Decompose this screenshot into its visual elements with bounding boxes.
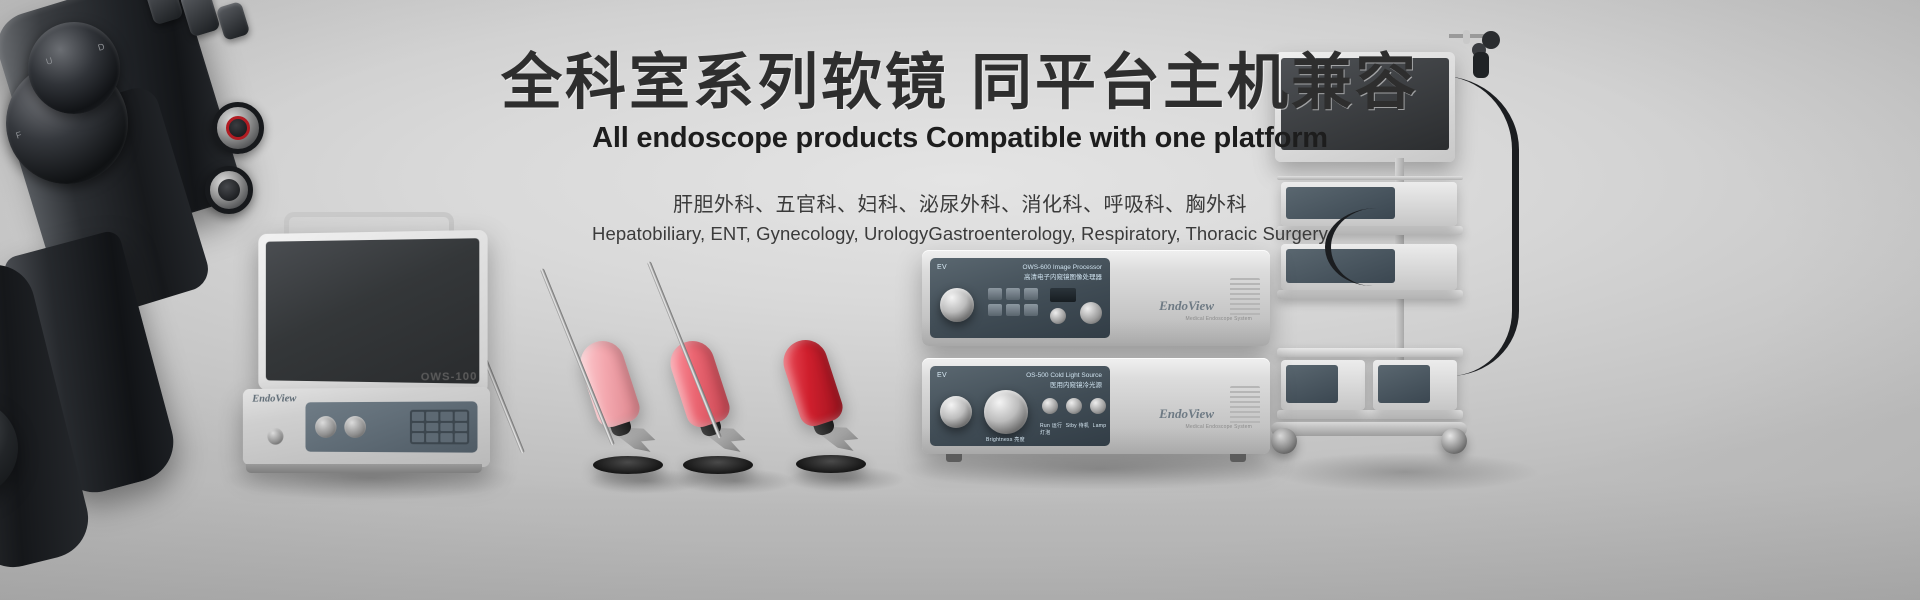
departments-english: Hepatobiliary, ENT, Gynecology, UrologyG… xyxy=(0,223,1920,245)
cart-shelf-2 xyxy=(1277,290,1463,299)
processor-foot-left xyxy=(946,454,962,462)
endoscope-button-3 xyxy=(216,1,251,41)
light-source-brightness-knob xyxy=(984,390,1028,434)
light-source-knob-label: Brightness 亮度 xyxy=(986,436,1025,443)
cart-device-aux-left xyxy=(1281,360,1365,410)
processor-button-4 xyxy=(988,304,1002,316)
light-source-title: OS-500 Cold Light Source 医用内窥镜冷光源 xyxy=(1026,371,1102,391)
light-source-title-en: OS-500 Cold Light Source xyxy=(1026,372,1102,379)
headline-part-2: 同平台主机兼容 xyxy=(971,48,1419,116)
departments-chinese: 肝胆外科、五官科、妇科、泌尿外科、消化科、呼吸科、胸外科 xyxy=(0,188,1920,217)
workstation-model-label: OWS-100 xyxy=(421,371,478,384)
cart-device-aux-right-panel xyxy=(1378,365,1430,403)
cart-device-aux-left-panel xyxy=(1286,365,1338,403)
processor-title-en: OWS-600 Image Processor xyxy=(1023,264,1102,271)
light-source-brand-tag: EV xyxy=(937,372,947,379)
cart-caster-right xyxy=(1441,428,1467,454)
light-source-button-standby xyxy=(1066,398,1082,414)
cart-caster-left xyxy=(1271,428,1297,454)
camera-image-processor: EV OWS-600 Image Processor 高清电子内窥镜图像处理器 … xyxy=(922,250,1270,346)
light-source-brand: EndoView xyxy=(1159,406,1214,422)
processor-title-cn: 高清电子内窥镜图像处理器 xyxy=(1024,274,1102,281)
processor-port-usb xyxy=(1050,288,1076,302)
cold-light-source: EV OS-500 Cold Light Source 医用内窥镜冷光源 Run… xyxy=(922,358,1270,454)
laparoscopic-instrument-red xyxy=(712,243,867,483)
processor-brand: EndoView xyxy=(1159,298,1214,314)
cart-shelf-3 xyxy=(1277,348,1463,357)
processor-button-5 xyxy=(1006,304,1020,316)
light-source-knob-left xyxy=(940,396,972,428)
processor-stack: EV OWS-600 Image Processor 高清电子内窥镜图像处理器 … xyxy=(922,250,1272,465)
processor-title: OWS-600 Image Processor 高清电子内窥镜图像处理器 xyxy=(1023,263,1102,283)
processor-button-1 xyxy=(988,288,1002,300)
processor-small-knob xyxy=(1050,308,1066,324)
processor-front-panel: EV OWS-600 Image Processor 高清电子内窥镜图像处理器 xyxy=(930,258,1110,338)
light-source-front-panel: EV OS-500 Cold Light Source 医用内窥镜冷光源 Run… xyxy=(930,366,1110,446)
light-source-title-cn: 医用内窥镜冷光源 xyxy=(1050,382,1102,389)
processor-vent xyxy=(1230,278,1260,318)
processor-power-button xyxy=(1080,302,1102,324)
cart-base-plate xyxy=(1271,422,1467,436)
instrument-handle xyxy=(778,334,846,429)
processor-main-knob xyxy=(940,288,974,322)
banner-text-block: 全科室系列软镜同平台主机兼容 All endoscope products Co… xyxy=(0,48,1920,245)
light-source-button-lamp xyxy=(1090,398,1106,414)
light-source-button-run xyxy=(1042,398,1058,414)
light-source-button-labels: Run 运行 Stby 待机 Lamp 灯泡 xyxy=(1040,422,1110,436)
workstation-keypad xyxy=(410,410,469,445)
endoscope-marketing-banner: 全科室系列软镜同平台主机兼容 All endoscope products Co… xyxy=(0,0,1920,600)
cart-shelf-4 xyxy=(1277,410,1463,419)
processor-button-6 xyxy=(1024,304,1038,316)
processor-button-2 xyxy=(1006,288,1020,300)
light-source-vent xyxy=(1230,386,1260,426)
processor-button-3 xyxy=(1024,288,1038,300)
cart-device-aux-right xyxy=(1373,360,1457,410)
processor-brand-tag: EV xyxy=(937,264,947,271)
headline-part-1: 全科室系列软镜 xyxy=(501,48,949,116)
processor-foot-right xyxy=(1230,454,1246,462)
page-title: 全科室系列软镜同平台主机兼容 xyxy=(0,48,1920,116)
subtitle-english: All endoscope products Compatible with o… xyxy=(0,121,1920,156)
instrument-stand xyxy=(796,455,866,473)
